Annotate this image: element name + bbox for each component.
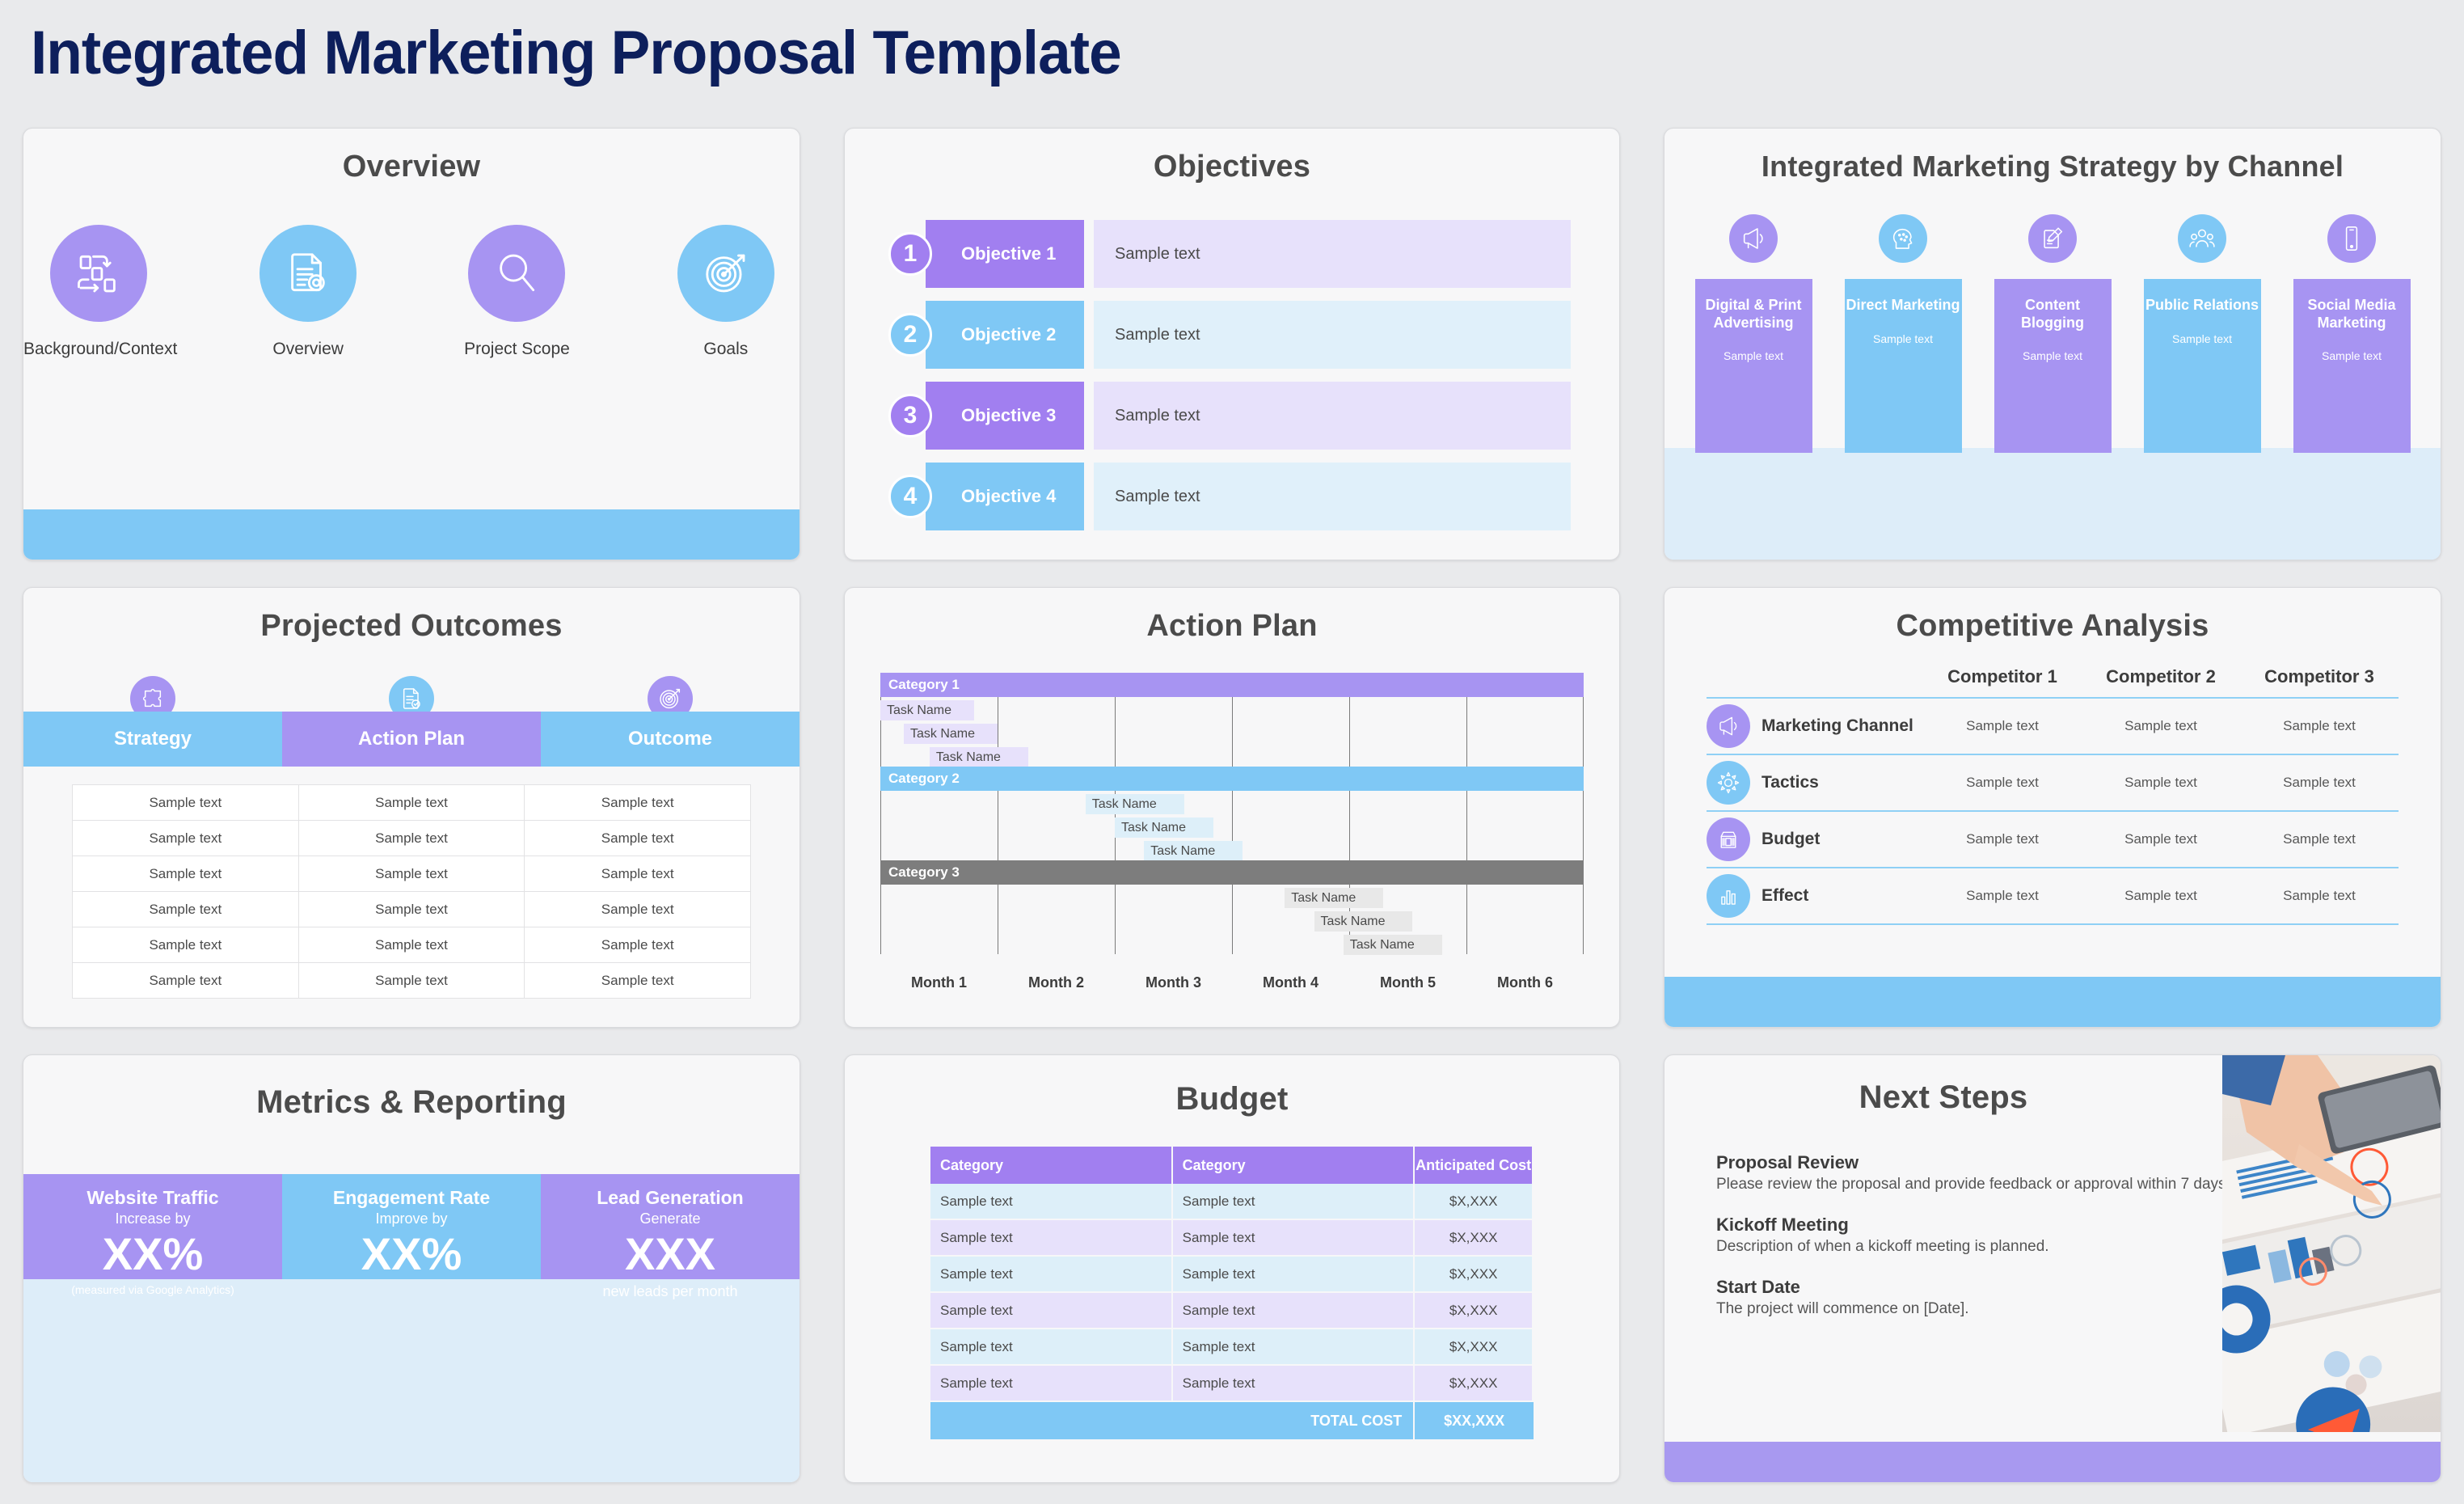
next-steps-card: Next Steps Proposal ReviewPlease review …: [1664, 1054, 2441, 1483]
table-cell[interactable]: Sample text: [1173, 1184, 1416, 1220]
table-cell[interactable]: Sample text: [930, 1184, 1173, 1220]
overview-item[interactable]: Overview: [234, 225, 382, 359]
people-group-icon: [2178, 214, 2226, 263]
strategy-column-title: Public Relations: [2144, 297, 2261, 315]
competitive-row-label: Effect: [1762, 886, 1808, 905]
overview-item-label: Overview: [234, 340, 382, 359]
competitive-cell[interactable]: Sample text: [2240, 831, 2399, 847]
objectives-list: 1Objective 1Sample text2Objective 2Sampl…: [845, 220, 1619, 530]
metric-note: (measured via Google Analytics): [23, 1283, 282, 1296]
gantt-month-column: [1466, 673, 1584, 954]
table-cell[interactable]: Sample text: [73, 927, 299, 962]
metric-note: new leads per month: [541, 1283, 800, 1300]
next-step-heading: Start Date: [1716, 1277, 2234, 1298]
table-row[interactable]: Sample textSample textSample text: [73, 856, 750, 892]
gantt-task-bar[interactable]: Task Name: [930, 747, 1028, 767]
strategy-title: Integrated Marketing Strategy by Channel: [1664, 150, 2441, 184]
next-step-text: Please review the proposal and provide f…: [1716, 1176, 2234, 1193]
competitive-row[interactable]: Marketing ChannelSample textSample textS…: [1707, 697, 2399, 754]
metric-subtitle: Generate: [541, 1210, 800, 1227]
competitive-row-header: Budget: [1707, 817, 1923, 861]
proposal-template-page: Integrated Marketing Proposal Template O…: [0, 0, 2464, 1504]
gantt-task-bar[interactable]: Task Name: [904, 724, 998, 744]
competitive-row[interactable]: EffectSample textSample textSample text: [1707, 867, 2399, 923]
gantt-task-bar[interactable]: Task Name: [1115, 817, 1213, 838]
objective-label: Objective 4: [926, 463, 1084, 530]
strategy-icon-wrap: [1994, 214, 2112, 263]
megaphone-icon: [1707, 704, 1750, 748]
table-cell[interactable]: $X,XXX: [1415, 1366, 1534, 1402]
table-cell[interactable]: Sample text: [299, 963, 525, 998]
competitive-cell[interactable]: Sample text: [1923, 775, 2082, 791]
next-step-item: Start DateThe project will commence on […: [1716, 1277, 2234, 1318]
objective-row[interactable]: 2Objective 2Sample text: [926, 301, 1571, 369]
competitive-bottom-rule: [1707, 923, 2399, 925]
bar-chart-icon: [1707, 874, 1750, 918]
objective-number-badge: 3: [888, 394, 932, 437]
gantt-month-label: Month 4: [1232, 959, 1349, 996]
table-cell[interactable]: Sample text: [525, 856, 750, 891]
metric-cell[interactable]: Website TrafficIncrease byXX%(measured v…: [23, 1174, 282, 1279]
gantt-task-bar[interactable]: Task Name: [1314, 911, 1413, 932]
outcomes-column-header: Outcome: [541, 712, 800, 767]
table-cell[interactable]: Sample text: [1173, 1220, 1416, 1257]
competitive-column-header: Competitor 1: [1923, 666, 2082, 697]
budget-card: Budget CategoryCategoryAnticipated CostS…: [844, 1054, 1620, 1483]
flowchart-icon: [50, 225, 147, 322]
overview-item-label: Goals: [652, 340, 800, 359]
table-cell[interactable]: Sample text: [73, 892, 299, 927]
budget-total-label: TOTAL COST: [930, 1402, 1415, 1439]
strategy-icon-wrap: [1845, 214, 1962, 263]
gantt-month-label: Month 6: [1466, 959, 1584, 996]
competitive-row-header: Tactics: [1707, 761, 1923, 805]
metric-subtitle: Improve by: [282, 1210, 541, 1227]
table-cell[interactable]: Sample text: [1173, 1366, 1416, 1402]
metric-value: XX%: [23, 1232, 282, 1275]
competitive-row-header: Marketing Channel: [1707, 704, 1923, 748]
table-cell[interactable]: Sample text: [930, 1220, 1173, 1257]
metric-title: Engagement Rate: [282, 1187, 541, 1209]
gantt-task-bar[interactable]: Task Name: [1144, 841, 1243, 861]
objective-row[interactable]: 1Objective 1Sample text: [926, 220, 1571, 288]
competitive-cell[interactable]: Sample text: [1923, 718, 2082, 734]
competitive-analysis-card: Competitive Analysis Competitor 1Competi…: [1664, 587, 2441, 1028]
competitive-cell[interactable]: Sample text: [2082, 888, 2240, 904]
next-step-text: The project will commence on [Date].: [1716, 1300, 2234, 1318]
budget-column-header: Category: [1173, 1147, 1416, 1184]
objective-number-badge: 4: [888, 475, 932, 518]
objective-value[interactable]: Sample text: [1094, 301, 1571, 369]
table-cell[interactable]: $X,XXX: [1415, 1184, 1534, 1220]
gantt-month-labels: Month 1Month 2Month 3Month 4Month 5Month…: [880, 959, 1584, 996]
strategy-icon-wrap: [1695, 214, 1812, 263]
strategy-column-text: Sample text: [2293, 349, 2411, 362]
table-cell[interactable]: $X,XXX: [1415, 1220, 1534, 1257]
strategy-column-text: Sample text: [1845, 332, 1962, 345]
target-arrow-icon: [677, 225, 774, 322]
strategy-footer-bar: [1664, 448, 2441, 560]
metrics-footer-area: [23, 1279, 800, 1482]
objectives-title: Objectives: [845, 150, 1619, 184]
table-cell[interactable]: Sample text: [525, 927, 750, 962]
table-cell[interactable]: Sample text: [73, 963, 299, 998]
gantt-month-label: Month 5: [1349, 959, 1466, 996]
gantt-right-edge: [1583, 673, 1584, 954]
objective-number-badge: 1: [888, 232, 932, 276]
megaphone-icon: [1729, 214, 1778, 263]
metrics-card: Metrics & Reporting Website TrafficIncre…: [23, 1054, 800, 1483]
competitive-row[interactable]: TacticsSample textSample textSample text: [1707, 754, 2399, 810]
table-cell[interactable]: Sample text: [299, 856, 525, 891]
table-row[interactable]: Sample textSample text$X,XXX: [930, 1293, 1534, 1329]
competitive-footer-bar: [1664, 977, 2441, 1027]
table-cell[interactable]: Sample text: [930, 1293, 1173, 1329]
next-steps-list: Proposal ReviewPlease review the proposa…: [1716, 1152, 2234, 1339]
budget-column-header: Anticipated Cost: [1415, 1147, 1534, 1184]
metric-cell[interactable]: Engagement RateImprove byXX%: [282, 1174, 541, 1279]
table-row[interactable]: Sample textSample text$X,XXX: [930, 1220, 1534, 1257]
overview-icon-row: Background/ContextOverviewProject ScopeG…: [23, 225, 800, 359]
table-cell[interactable]: Sample text: [930, 1329, 1173, 1366]
competitive-row-label: Tactics: [1762, 773, 1819, 792]
competitive-cell[interactable]: Sample text: [2082, 718, 2240, 734]
budget-total-value: $XX,XXX: [1415, 1402, 1534, 1439]
outcomes-column-header: Strategy: [23, 712, 282, 767]
table-row[interactable]: Sample textSample text$X,XXX: [930, 1184, 1534, 1220]
mobile-phone-icon: [2327, 214, 2376, 263]
budget-header-row: CategoryCategoryAnticipated Cost: [930, 1147, 1534, 1184]
table-cell[interactable]: Sample text: [73, 856, 299, 891]
strategy-column-text: Sample text: [2144, 332, 2261, 345]
budget-table: CategoryCategoryAnticipated CostSample t…: [930, 1147, 1534, 1439]
competitive-cell[interactable]: Sample text: [2082, 831, 2240, 847]
next-step-heading: Proposal Review: [1716, 1152, 2234, 1173]
overview-item-label: Project Scope: [443, 340, 590, 359]
hand-pointing-at-reports-photo: [2222, 1055, 2441, 1432]
table-cell[interactable]: Sample text: [73, 821, 299, 856]
metric-title: Website Traffic: [23, 1187, 282, 1209]
competitive-row-label: Budget: [1762, 830, 1820, 848]
strategy-column[interactable]: Public RelationsSample text: [2144, 279, 2261, 453]
table-cell[interactable]: Sample text: [73, 785, 299, 820]
strategy-column-title: Social Media Marketing: [2293, 297, 2411, 332]
gantt-task-bar[interactable]: Task Name: [1285, 888, 1383, 908]
table-cell[interactable]: Sample text: [930, 1366, 1173, 1402]
strategy-column-title: Direct Marketing: [1845, 297, 1962, 315]
outcomes-table: Sample textSample textSample textSample …: [72, 784, 751, 999]
table-row[interactable]: Sample textSample textSample text: [73, 963, 750, 998]
strategy-column-title: Content Blogging: [1994, 297, 2112, 332]
objectives-card: Objectives 1Objective 1Sample text2Objec…: [844, 128, 1620, 560]
gantt-chart: Category 1Task NameTask NameTask NameCat…: [880, 673, 1584, 996]
table-cell[interactable]: Sample text: [525, 963, 750, 998]
competitive-column-header: Competitor 3: [2240, 666, 2399, 697]
gantt-month-label: Month 1: [880, 959, 998, 996]
gantt-month-label: Month 2: [998, 959, 1115, 996]
competitive-cell[interactable]: Sample text: [2240, 775, 2399, 791]
table-cell[interactable]: Sample text: [525, 821, 750, 856]
budget-title: Budget: [845, 1081, 1619, 1117]
gantt-month-label: Month 3: [1115, 959, 1232, 996]
gantt-task-bar[interactable]: Task Name: [1086, 794, 1184, 814]
strategy-column-text: Sample text: [1695, 349, 1812, 362]
projected-outcomes-card: Projected Outcomes StrategyAction PlanOu…: [23, 587, 800, 1028]
next-step-item: Proposal ReviewPlease review the proposa…: [1716, 1152, 2234, 1193]
competitive-cell[interactable]: Sample text: [1923, 831, 2082, 847]
competitive-cell[interactable]: Sample text: [2082, 775, 2240, 791]
outcomes-column-header: Action Plan: [282, 712, 541, 767]
gantt-task-bar[interactable]: Task Name: [1344, 935, 1442, 955]
strategy-column[interactable]: Direct MarketingSample text: [1845, 279, 1962, 453]
objective-label: Objective 1: [926, 220, 1084, 288]
pencil-document-icon: [2028, 214, 2077, 263]
strategy-column[interactable]: Content BloggingSample text: [1994, 279, 2112, 453]
objective-label: Objective 3: [926, 382, 1084, 450]
objective-value[interactable]: Sample text: [1094, 220, 1571, 288]
overview-item[interactable]: Project Scope: [443, 225, 590, 359]
competitive-header-row: Competitor 1Competitor 2Competitor 3: [1707, 666, 2399, 697]
table-row[interactable]: Sample textSample textSample text: [73, 927, 750, 963]
table-cell[interactable]: $X,XXX: [1415, 1293, 1534, 1329]
competitive-row-header: Effect: [1707, 874, 1923, 918]
overview-item-label: Background/Context: [23, 340, 173, 359]
competitive-analysis-title: Competitive Analysis: [1664, 609, 2441, 644]
brain-head-icon: [1879, 214, 1927, 263]
outcomes-header-row: StrategyAction PlanOutcome: [23, 712, 800, 767]
table-cell[interactable]: Sample text: [525, 892, 750, 927]
next-step-item: Kickoff MeetingDescription of when a kic…: [1716, 1215, 2234, 1256]
document-view-icon: [259, 225, 357, 322]
strategy-columns: Digital & Print AdvertisingSample textDi…: [1664, 279, 2441, 453]
objective-row[interactable]: 3Objective 3Sample text: [926, 382, 1571, 450]
competitive-table: Competitor 1Competitor 2Competitor 3Mark…: [1707, 666, 2399, 925]
table-cell[interactable]: Sample text: [299, 821, 525, 856]
competitive-cell[interactable]: Sample text: [2240, 888, 2399, 904]
table-row[interactable]: Sample textSample text$X,XXX: [930, 1257, 1534, 1293]
overview-card: Overview Background/ContextOverviewProje…: [23, 128, 800, 560]
gear-icon: [1707, 761, 1750, 805]
table-row[interactable]: Sample textSample text$X,XXX: [930, 1366, 1534, 1402]
next-step-heading: Kickoff Meeting: [1716, 1215, 2234, 1236]
strategy-card: Integrated Marketing Strategy by Channel…: [1664, 128, 2441, 560]
table-cell[interactable]: $X,XXX: [1415, 1257, 1534, 1293]
strategy-column-text: Sample text: [1994, 349, 2112, 362]
magnifier-icon: [468, 225, 565, 322]
objective-number-badge: 2: [888, 313, 932, 357]
table-cell[interactable]: Sample text: [1173, 1257, 1416, 1293]
table-cell[interactable]: Sample text: [299, 927, 525, 962]
objective-label: Objective 2: [926, 301, 1084, 369]
table-row[interactable]: Sample textSample textSample text: [73, 821, 750, 856]
competitive-row-label: Marketing Channel: [1762, 716, 1913, 735]
metrics-row: Website TrafficIncrease byXX%(measured v…: [23, 1174, 800, 1279]
objective-row[interactable]: 4Objective 4Sample text: [926, 463, 1571, 530]
strategy-column-title: Digital & Print Advertising: [1695, 297, 1812, 332]
metric-title: Lead Generation: [541, 1187, 800, 1209]
table-cell[interactable]: Sample text: [525, 785, 750, 820]
metric-value: XXX: [541, 1232, 800, 1275]
action-plan-card: Action Plan Category 1Task NameTask Name…: [844, 587, 1620, 1028]
metric-value: XX%: [282, 1232, 541, 1275]
table-row[interactable]: Sample textSample textSample text: [73, 785, 750, 821]
gantt-category-bar[interactable]: Category 1: [880, 673, 1584, 697]
page-title: Integrated Marketing Proposal Template: [31, 18, 1121, 88]
gantt-grid: [880, 673, 1584, 954]
strategy-icon-row: [1664, 214, 2441, 263]
overview-title: Overview: [23, 150, 800, 184]
next-steps-title: Next Steps: [1664, 1079, 2222, 1116]
table-cell[interactable]: Sample text: [930, 1257, 1173, 1293]
table-cell[interactable]: $X,XXX: [1415, 1329, 1534, 1366]
overview-item[interactable]: Background/Context: [23, 225, 173, 359]
gantt-category-bar[interactable]: Category 2: [880, 767, 1584, 791]
next-step-text: Description of when a kickoff meeting is…: [1716, 1238, 2234, 1256]
gantt-category-bar[interactable]: Category 3: [880, 860, 1584, 885]
table-row[interactable]: Sample textSample textSample text: [73, 892, 750, 927]
objective-value[interactable]: Sample text: [1094, 382, 1571, 450]
projected-outcomes-title: Projected Outcomes: [23, 609, 800, 644]
metric-cell[interactable]: Lead GenerationGenerateXXXnew leads per …: [541, 1174, 800, 1279]
table-cell[interactable]: Sample text: [1173, 1329, 1416, 1366]
table-cell[interactable]: Sample text: [1173, 1293, 1416, 1329]
overview-item[interactable]: Goals: [652, 225, 800, 359]
strategy-icon-wrap: [2144, 214, 2261, 263]
budget-total-row: TOTAL COST$XX,XXX: [930, 1402, 1534, 1439]
objective-value[interactable]: Sample text: [1094, 463, 1571, 530]
action-plan-title: Action Plan: [845, 609, 1619, 644]
gantt-task-bar[interactable]: Task Name: [880, 700, 974, 720]
next-steps-footer-bar: [1664, 1442, 2441, 1482]
metrics-title: Metrics & Reporting: [23, 1084, 800, 1121]
table-cell[interactable]: Sample text: [299, 785, 525, 820]
table-row[interactable]: Sample textSample text$X,XXX: [930, 1329, 1534, 1366]
competitive-cell[interactable]: Sample text: [1923, 888, 2082, 904]
metric-subtitle: Increase by: [23, 1210, 282, 1227]
strategy-column[interactable]: Digital & Print AdvertisingSample text: [1695, 279, 1812, 453]
budget-column-header: Category: [930, 1147, 1173, 1184]
strategy-column[interactable]: Social Media MarketingSample text: [2293, 279, 2411, 453]
strategy-icon-wrap: [2293, 214, 2411, 263]
competitive-cell[interactable]: Sample text: [2240, 718, 2399, 734]
competitive-row[interactable]: BudgetSample textSample textSample text: [1707, 810, 2399, 867]
money-icon: [1707, 817, 1750, 861]
table-cell[interactable]: Sample text: [299, 892, 525, 927]
spacer: [1707, 666, 1923, 697]
competitive-column-header: Competitor 2: [2082, 666, 2240, 697]
overview-footer-bar: [23, 509, 800, 560]
